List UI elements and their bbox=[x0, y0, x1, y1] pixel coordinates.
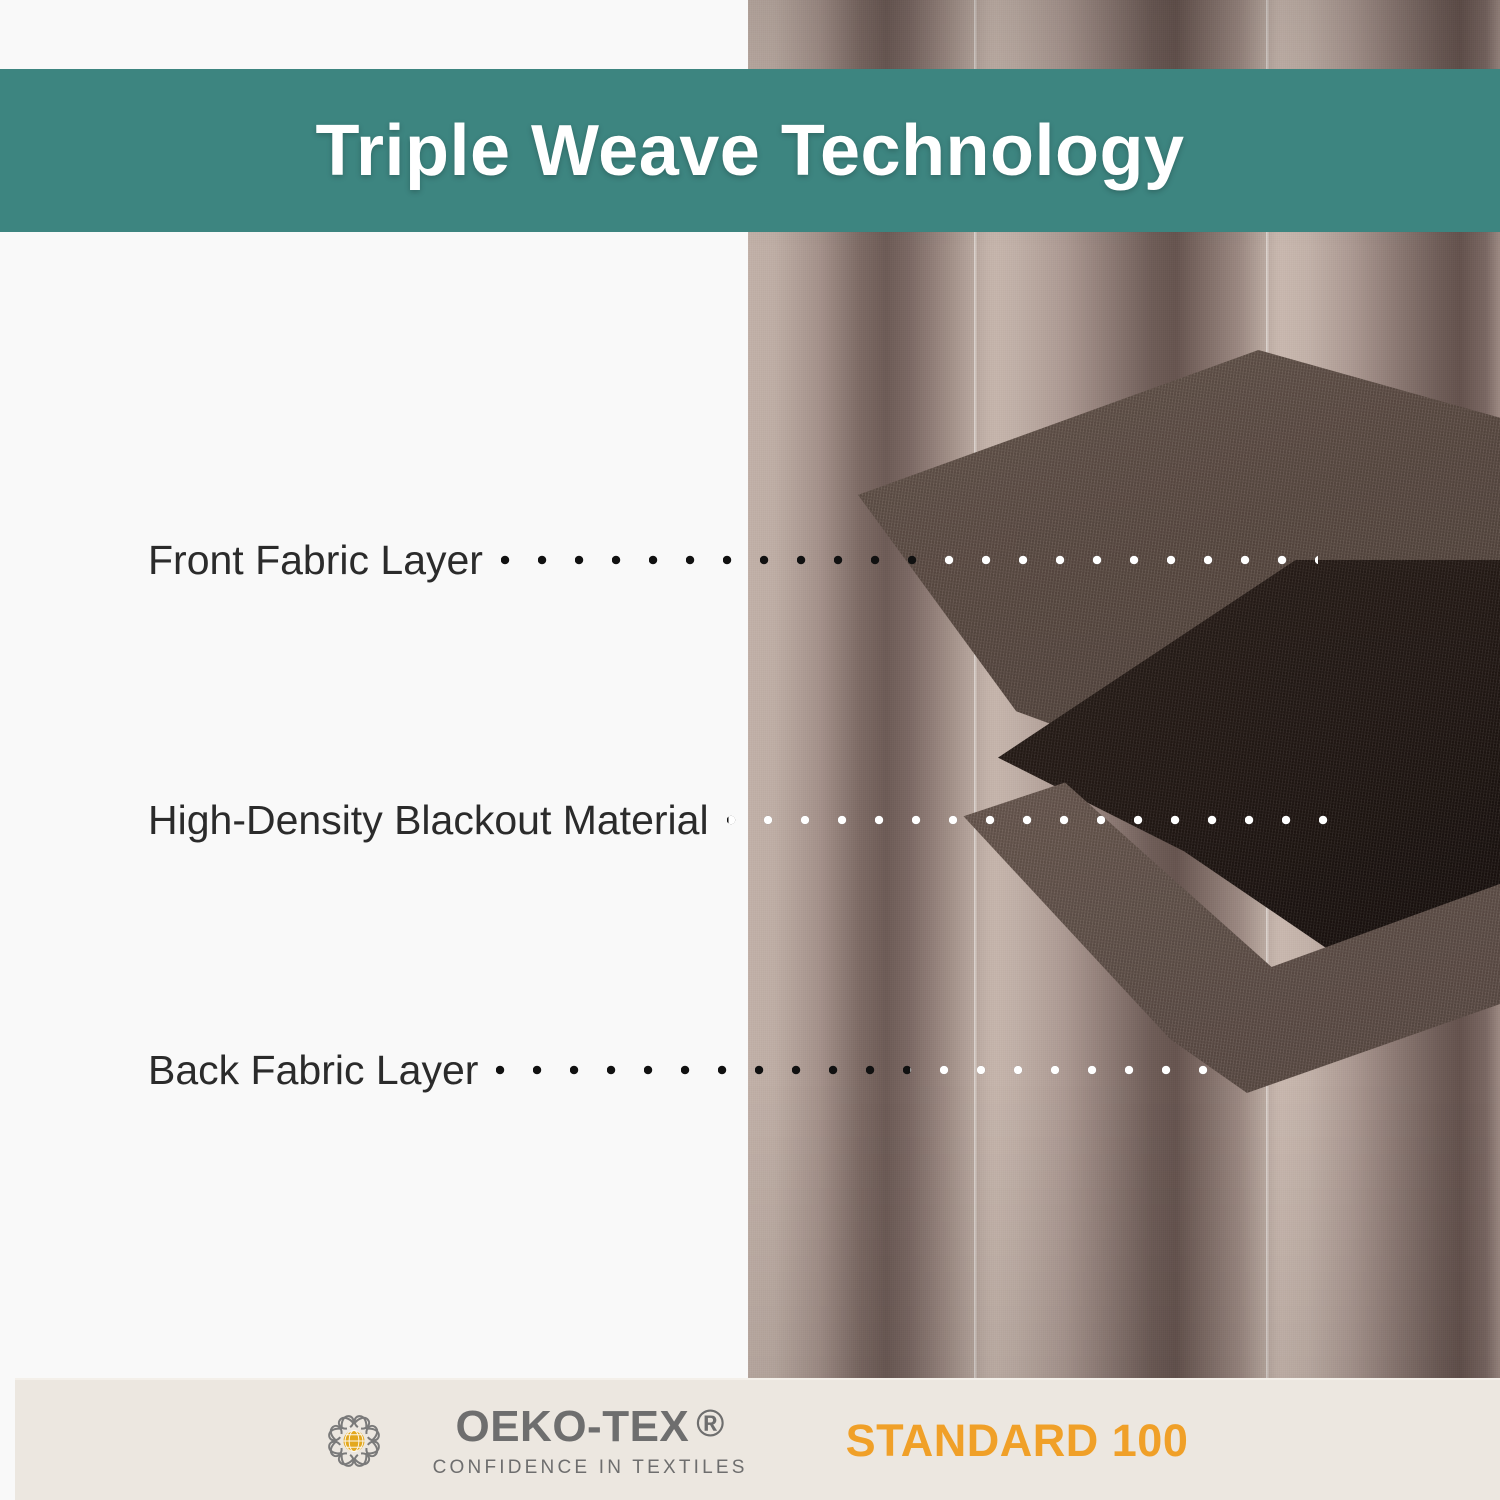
certification-footer: OEKO-TEX ® CONFIDENCE IN TEXTILES STANDA… bbox=[15, 1378, 1500, 1500]
title-banner: Triple Weave Technology bbox=[0, 69, 1500, 232]
callout-row-front-fabric: Front Fabric Layer bbox=[148, 530, 1318, 590]
dot-leader-light bbox=[727, 815, 1328, 825]
callout-row-blackout-material: High-Density Blackout Material bbox=[148, 790, 1328, 850]
infographic-canvas: Triple Weave Technology Front Fabric Lay… bbox=[0, 0, 1500, 1500]
oeko-tex-wordmark: OEKO-TEX ® CONFIDENCE IN TEXTILES bbox=[433, 1405, 748, 1477]
dot-leader bbox=[501, 555, 1318, 565]
oeko-tex-brand-line: OEKO-TEX ® bbox=[455, 1405, 724, 1449]
callout-row-back-fabric: Back Fabric Layer bbox=[148, 1040, 1208, 1100]
standard-100-label: STANDARD 100 bbox=[846, 1415, 1189, 1467]
oeko-tex-tagline: CONFIDENCE IN TEXTILES bbox=[433, 1458, 748, 1477]
certification-lockup: OEKO-TEX ® CONFIDENCE IN TEXTILES STANDA… bbox=[315, 1402, 1189, 1480]
callout-label: Front Fabric Layer bbox=[148, 540, 483, 581]
registered-trademark-icon: ® bbox=[696, 1405, 725, 1443]
callout-label: Back Fabric Layer bbox=[148, 1050, 478, 1091]
dot-leader bbox=[727, 815, 1328, 825]
oeko-tex-brand: OEKO-TEX bbox=[455, 1405, 689, 1449]
dot-leader-light-clip bbox=[727, 815, 1328, 825]
dot-leader bbox=[496, 1065, 1208, 1075]
oeko-tex-flower-globe-icon bbox=[315, 1402, 393, 1480]
page-title: Triple Weave Technology bbox=[315, 110, 1184, 192]
callout-label: High-Density Blackout Material bbox=[148, 800, 709, 841]
